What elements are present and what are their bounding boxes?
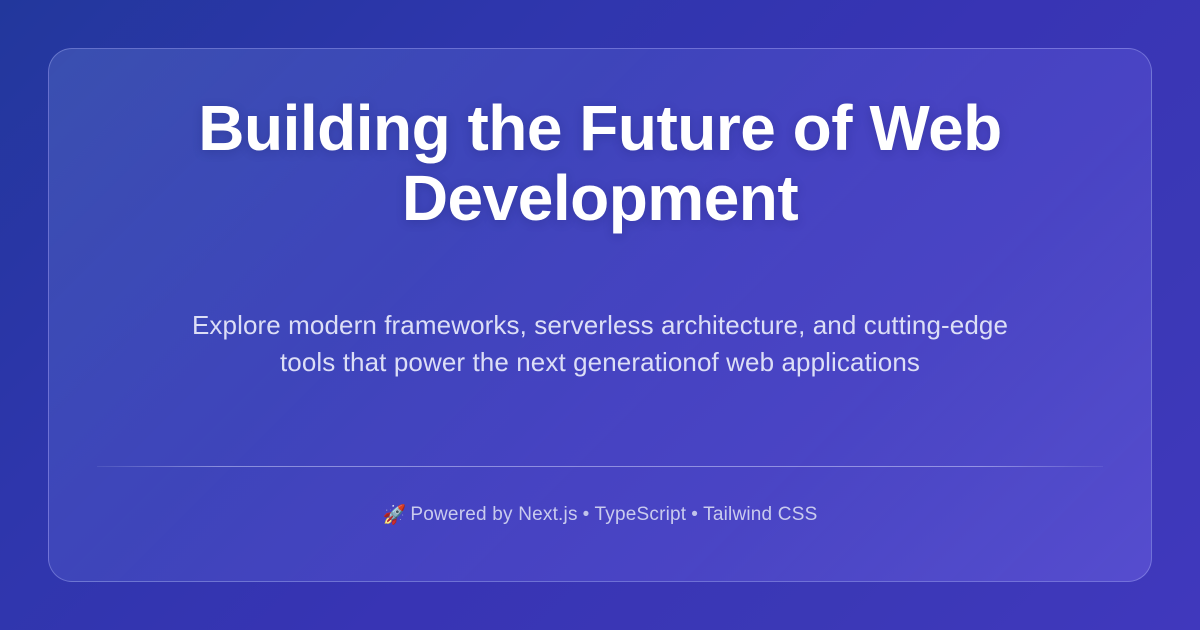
footer-credits: 🚀Powered by Next.js•TypeScript•Tailwind …	[97, 501, 1103, 530]
divider	[97, 466, 1103, 467]
footer-separator-2: •	[686, 504, 703, 525]
footer-separator-1: •	[578, 504, 595, 525]
subtitle-line-2: tools that power the next generationof w…	[280, 347, 920, 377]
footer-tech-tailwind: Tailwind CSS	[703, 504, 817, 525]
title-line-1: Building the Future of Web	[198, 92, 1002, 164]
footer-powered-by: Powered by Next.js	[410, 504, 577, 525]
og-card: Building the Future of Web Development E…	[48, 48, 1152, 582]
footer-tech-typescript: TypeScript	[595, 504, 687, 525]
page-title: Building the Future of Web Development	[97, 93, 1103, 233]
subtitle-line-1: Explore modern frameworks, serverless ar…	[192, 310, 1008, 340]
card-inner: Building the Future of Web Development E…	[49, 49, 1151, 581]
title-line-2: Development	[402, 162, 798, 234]
page-subtitle: Explore modern frameworks, serverless ar…	[169, 307, 1031, 381]
rocket-icon: 🚀	[383, 505, 407, 526]
